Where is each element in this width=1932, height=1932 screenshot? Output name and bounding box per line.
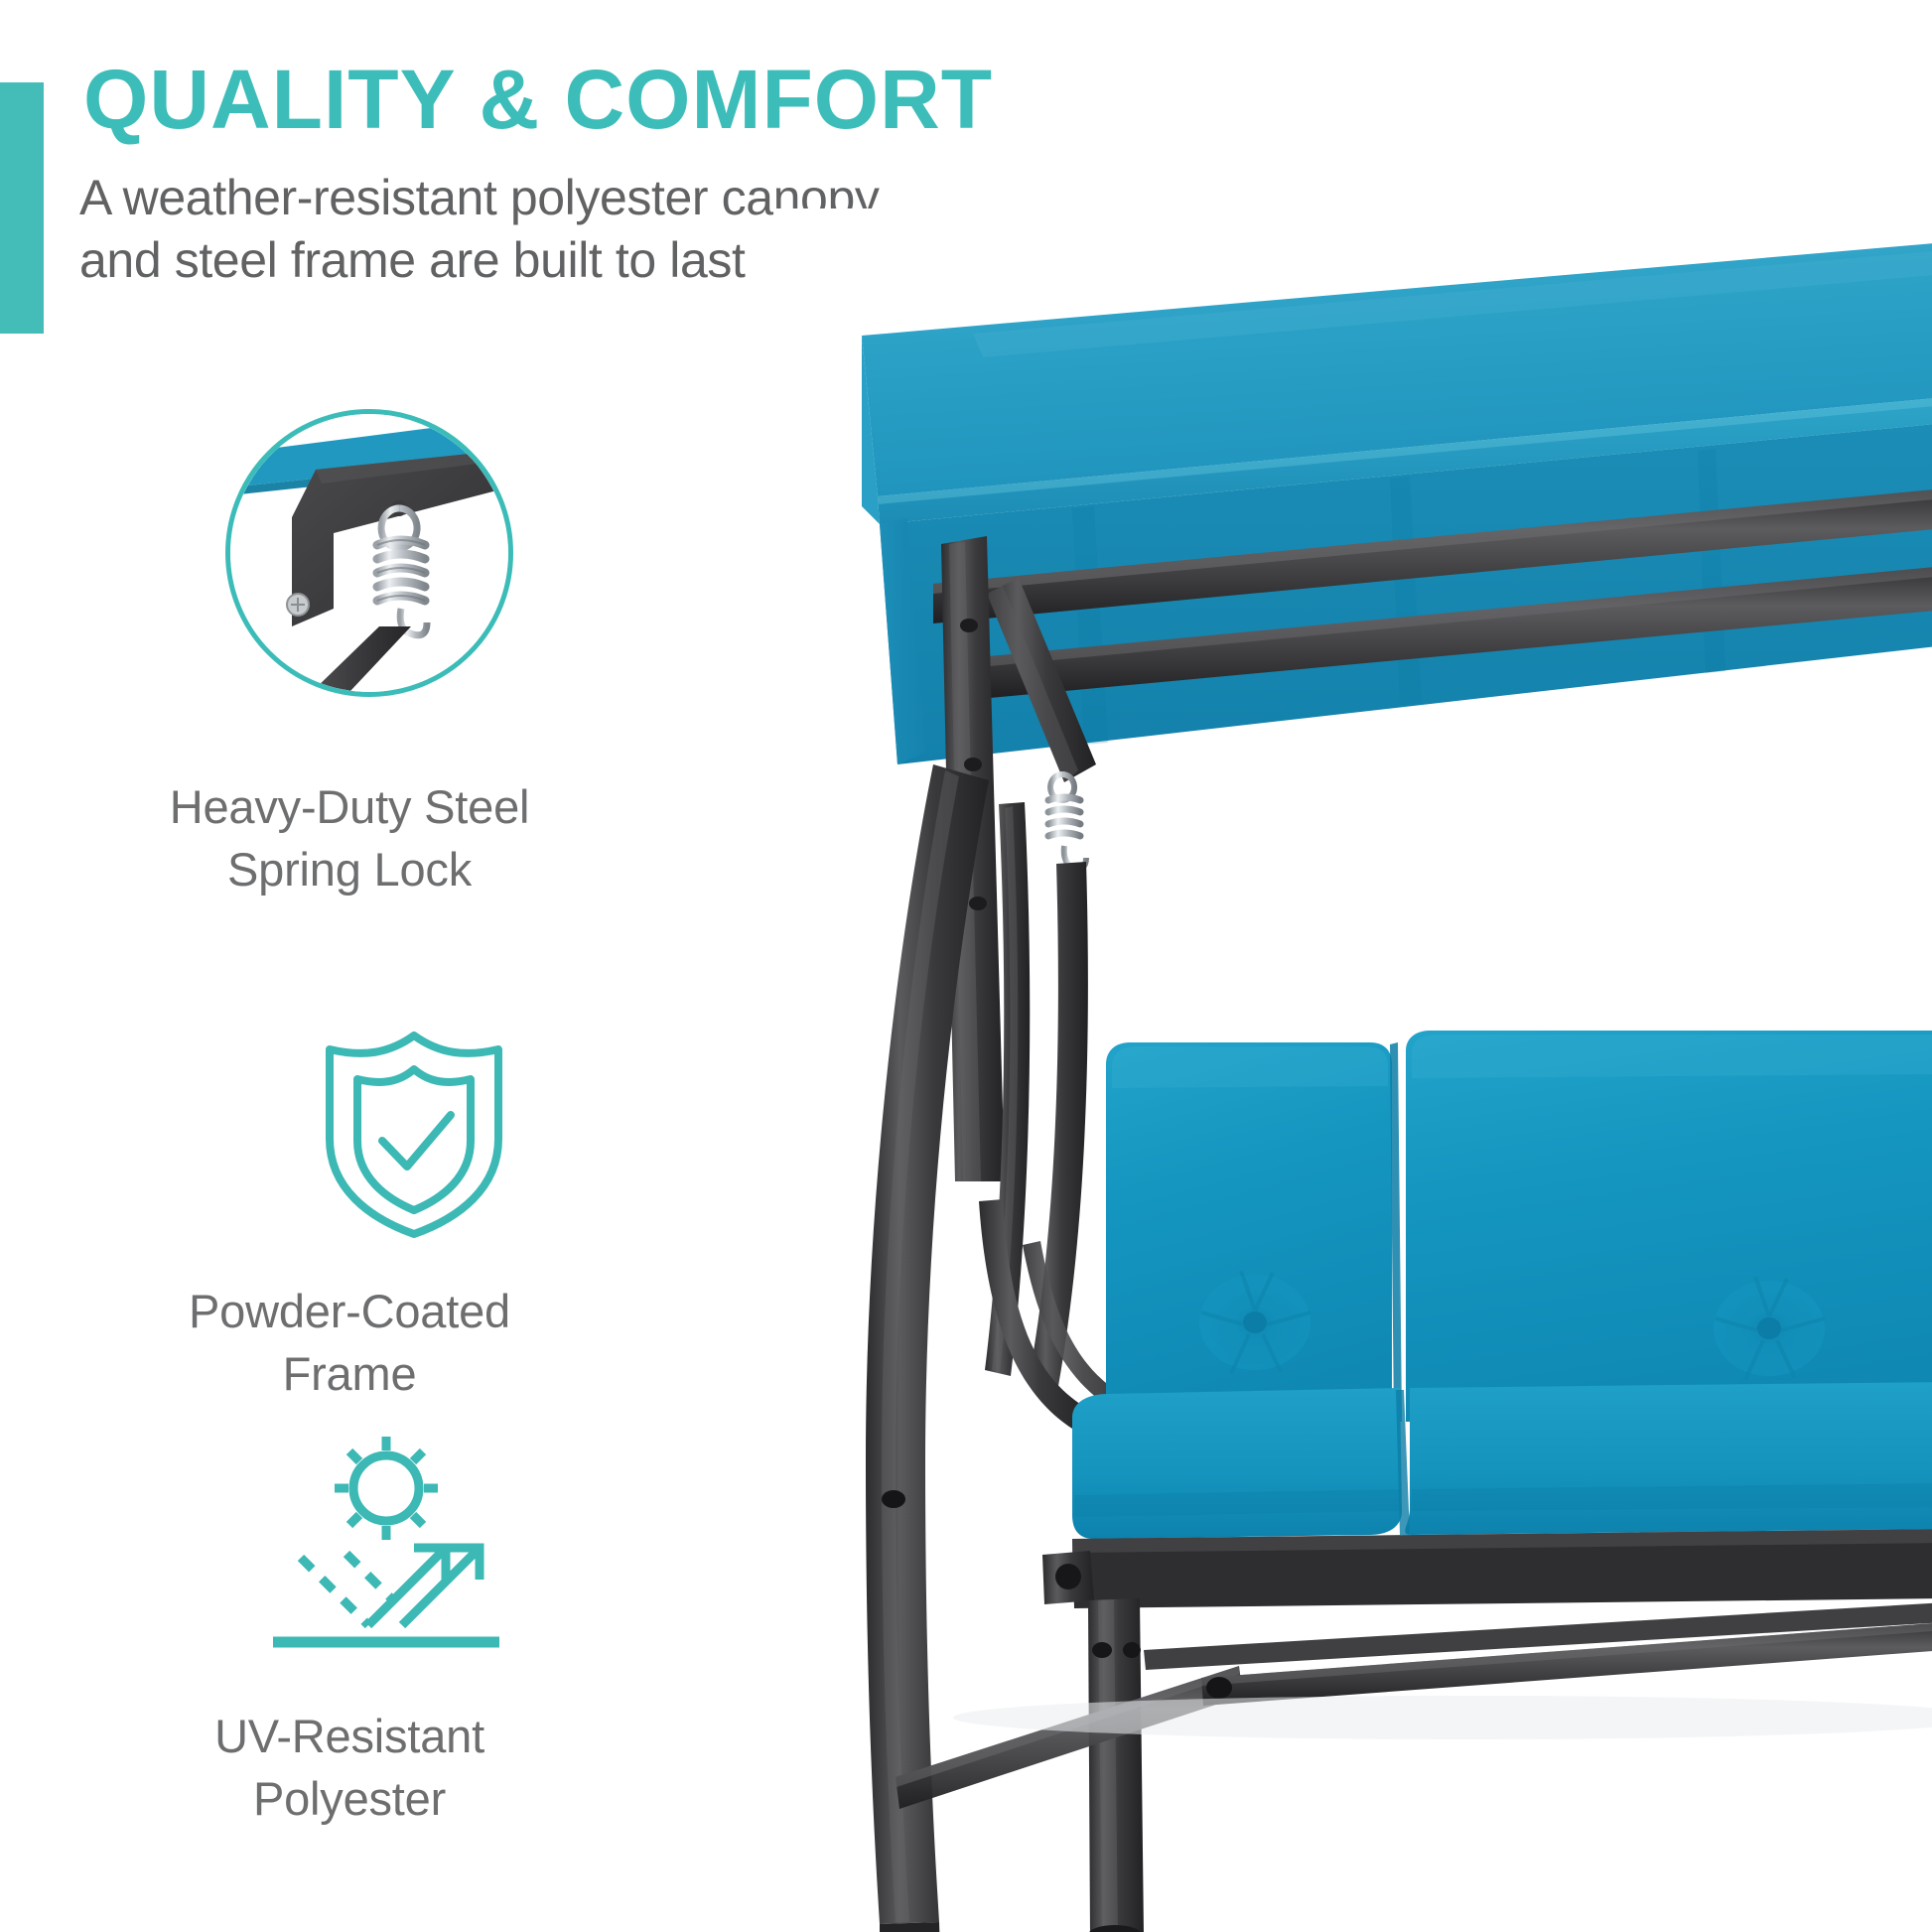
feature-3-label-line-1: UV-Resistant xyxy=(42,1706,657,1768)
feature-2-label-line-1: Powder-Coated xyxy=(42,1281,657,1343)
feature-1-label-line-1: Heavy-Duty Steel xyxy=(42,776,657,839)
product-feature-graphic: QUALITY & COMFORT A weather-resistant po… xyxy=(0,0,1932,1932)
feature-label-heavy-duty-steel-spring-lock: Heavy-Duty Steel Spring Lock xyxy=(42,776,657,900)
feature-label-powder-coated-frame: Powder-Coated Frame xyxy=(42,1281,657,1405)
feature-label-uv-resistant-polyester: UV-Resistant Polyester xyxy=(42,1706,657,1830)
product-photo-canopy-porch-swing xyxy=(774,208,1932,1932)
feature-2-label-line-2: Frame xyxy=(42,1343,657,1406)
spring-lock-photo-icon xyxy=(225,409,513,697)
shield-check-icon xyxy=(320,1028,508,1241)
header-accent-bar xyxy=(0,82,44,334)
uv-reflect-icon xyxy=(263,1427,509,1670)
feature-1-label-line-2: Spring Lock xyxy=(42,839,657,901)
page-title: QUALITY & COMFORT xyxy=(83,58,993,141)
feature-3-label-line-2: Polyester xyxy=(42,1768,657,1831)
